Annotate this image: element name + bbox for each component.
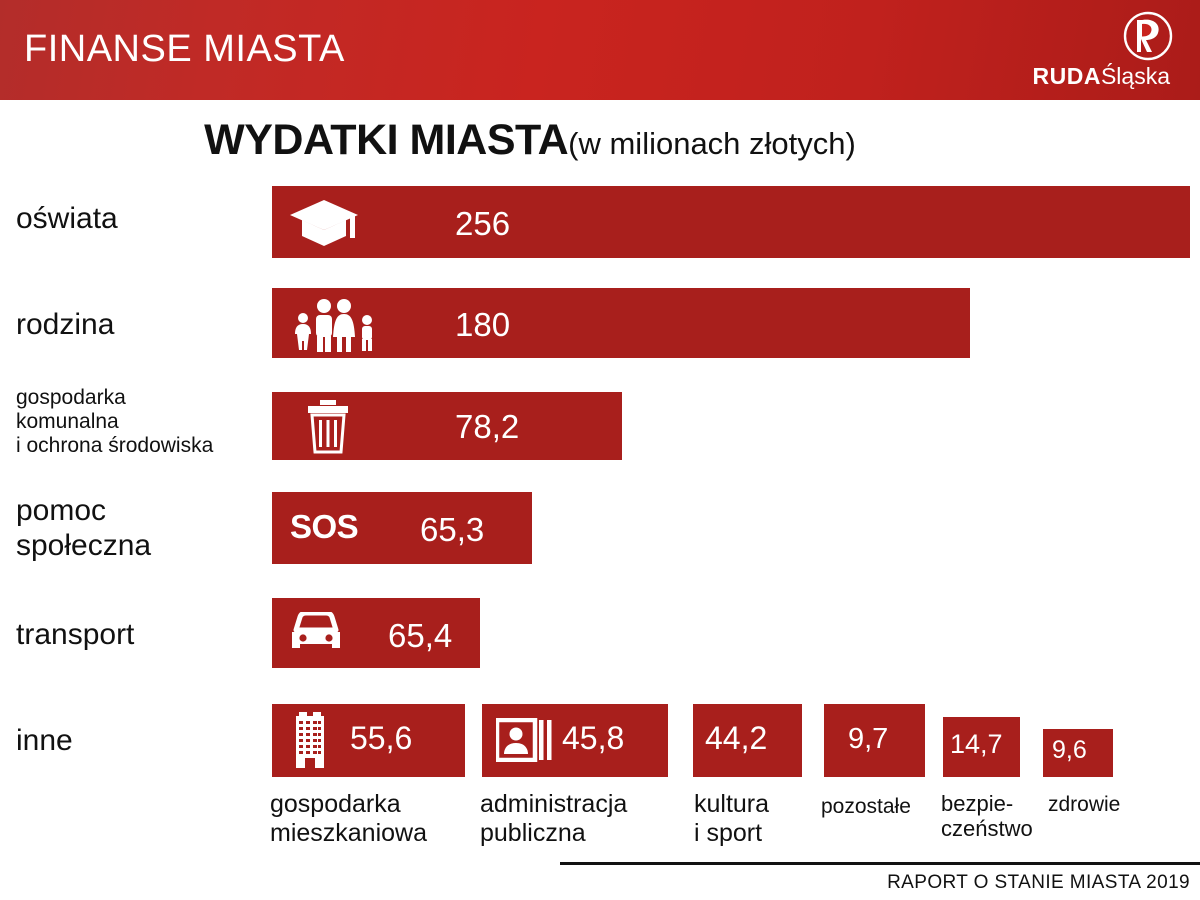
bar-value-pomoc-spoleczna: 65,3 (420, 511, 484, 549)
page-header: FINANSE MIASTA RUDAŚląska (0, 0, 1200, 100)
bar-value-oswiata: 256 (455, 205, 510, 243)
page-title: FINANSE MIASTA (24, 28, 345, 71)
office-building-icon (288, 710, 332, 770)
mini-label-pozostale: pozostałe (821, 795, 911, 819)
bar-value-gospodarka-mieszkaniowa: 55,6 (350, 720, 412, 757)
bar-value-pozostale: 9,7 (848, 723, 888, 756)
bar-value-zdrowie: 9,6 (1052, 736, 1087, 765)
row-label-gospodarka-komunalna: gospodarka komunalna i ochrona środowisk… (16, 386, 213, 458)
city-logo: RUDAŚląska (998, 10, 1178, 96)
row-label-rodzina: rodzina (16, 308, 114, 343)
bar-value-bezpieczenstwo: 14,7 (950, 729, 1003, 760)
bar-value-administracja-publiczna: 45,8 (562, 720, 624, 757)
mini-label-administracja-publiczna: administracja publiczna (480, 790, 627, 848)
chart-title-main: WYDATKI MIASTA (204, 116, 568, 164)
bar-oswiata (272, 186, 1190, 258)
mini-label-kultura-i-sport: kultura i sport (694, 790, 769, 848)
mini-label-zdrowie: zdrowie (1048, 793, 1120, 817)
ruda-slaska-emblem-icon (1120, 10, 1176, 66)
footer-source-text: RAPORT O STANIE MIASTA 2019 (887, 872, 1190, 894)
chart-title-sub: (w milionach złotych) (568, 126, 856, 161)
family-icon (292, 296, 378, 352)
footer-divider (560, 862, 1200, 865)
logo-slaska-text: Śląska (1101, 63, 1170, 89)
row-label-transport: transport (16, 618, 134, 653)
bar-value-transport: 65,4 (388, 617, 452, 655)
row-label-pomoc-spoleczna: pomoc społeczna (16, 494, 151, 563)
bar-value-rodzina: 180 (455, 306, 510, 344)
logo-ruda-text: RUDA (1033, 63, 1101, 89)
trash-bin-icon (302, 398, 354, 454)
sos-icon: SOS (290, 508, 358, 546)
row-label-inne: inne (16, 724, 73, 759)
chart-title: WYDATKI MIASTA(w milionach złotych) (0, 116, 1060, 165)
row-label-oswiata: oświata (16, 202, 118, 237)
mini-label-gospodarka-mieszkaniowa: gospodarka mieszkaniowa (270, 790, 427, 848)
bar-value-gospodarka-komunalna: 78,2 (455, 408, 519, 446)
bar-value-kultura-i-sport: 44,2 (705, 720, 767, 757)
id-card-icon (496, 718, 552, 762)
car-icon (288, 612, 344, 654)
mini-label-bezpieczenstwo: bezpie- czeństwo (941, 791, 1033, 842)
logo-wordmark: RUDAŚląska (1033, 65, 1171, 88)
graduation-cap-icon (288, 196, 360, 248)
